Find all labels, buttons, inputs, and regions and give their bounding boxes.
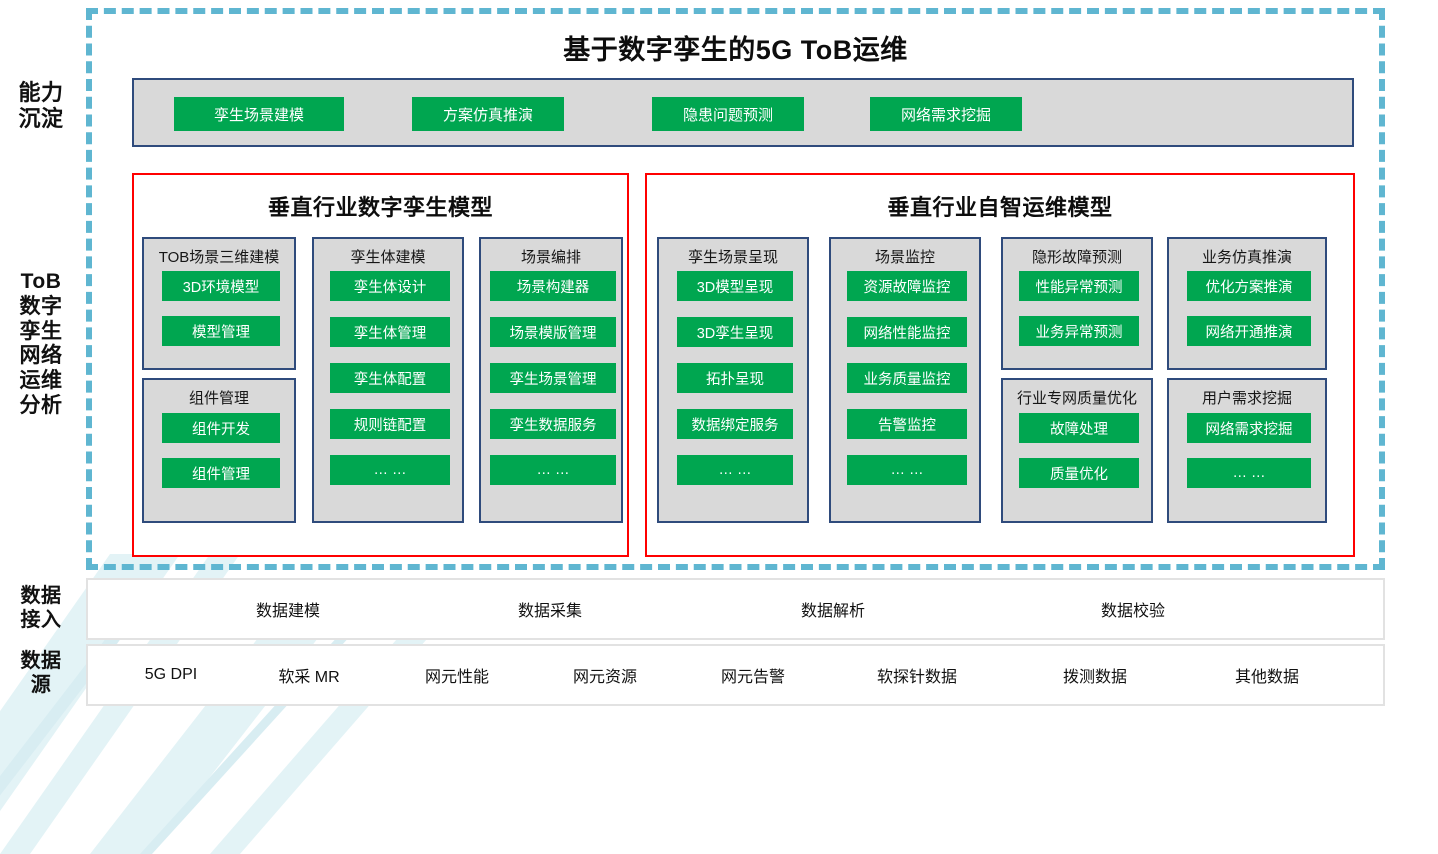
capability-chip[interactable]: 方案仿真推演 xyxy=(412,97,564,131)
row-label-data-ingest: 数据接入 xyxy=(0,585,82,632)
item-chip[interactable]: 组件管理 xyxy=(162,458,280,488)
item-chip[interactable]: 网络开通推演 xyxy=(1187,316,1311,346)
item-chip[interactable]: 规则链配置 xyxy=(330,409,450,439)
data-source-cell: 网元告警 xyxy=(680,646,826,704)
item-chip[interactable]: … … xyxy=(490,455,616,485)
item-chip[interactable]: … … xyxy=(330,455,450,485)
item-chip[interactable]: 孪生体管理 xyxy=(330,317,450,347)
item-chip[interactable]: 3D模型呈现 xyxy=(677,271,793,301)
item-chip[interactable]: 拓扑呈现 xyxy=(677,363,793,393)
item-chip[interactable]: 业务质量监控 xyxy=(847,363,967,393)
data-ingest-cell: 数据采集 xyxy=(450,580,650,638)
group-box: 业务仿真推演 优化方案推演 网络开通推演 xyxy=(1167,237,1327,370)
item-chip[interactable]: 场景构建器 xyxy=(490,271,616,301)
group-title: 孪生体建模 xyxy=(314,246,462,267)
data-source-cell: 其他数据 xyxy=(1194,646,1340,704)
capability-chip[interactable]: 隐患问题预测 xyxy=(652,97,804,131)
item-chip[interactable]: 3D环境模型 xyxy=(162,271,280,301)
group-title: TOB场景三维建模 xyxy=(144,246,294,267)
data-ingest-cell: 数据校验 xyxy=(1033,580,1233,638)
capability-strip: 孪生场景建模 方案仿真推演 隐患问题预测 网络需求挖掘 xyxy=(132,78,1354,147)
item-chip[interactable]: 资源故障监控 xyxy=(847,271,967,301)
group-title: 业务仿真推演 xyxy=(1169,246,1325,267)
model-panel-autonomous-ops: 垂直行业自智运维模型 孪生场景呈现 3D模型呈现 3D孪生呈现 拓扑呈现 数据绑… xyxy=(645,173,1355,557)
item-chip[interactable]: 网络需求挖掘 xyxy=(1187,413,1311,443)
model-panel-digital-twin: 垂直行业数字孪生模型 TOB场景三维建模 3D环境模型 模型管理 组件管理 组件… xyxy=(132,173,629,557)
item-chip[interactable]: 网络性能监控 xyxy=(847,317,967,347)
group-title: 组件管理 xyxy=(144,387,294,408)
group-title: 场景监控 xyxy=(831,246,979,267)
group-box: 组件管理 组件开发 组件管理 xyxy=(142,378,296,523)
capability-chip[interactable]: 网络需求挖掘 xyxy=(870,97,1022,131)
group-box: 场景监控 资源故障监控 网络性能监控 业务质量监控 告警监控 … … xyxy=(829,237,981,523)
page-title: 基于数字孪生的5G ToB运维 xyxy=(86,28,1385,67)
group-box: 行业专网质量优化 故障处理 质量优化 xyxy=(1001,378,1153,523)
model-panel-title: 垂直行业自智运维模型 xyxy=(647,190,1353,222)
group-title: 用户需求挖掘 xyxy=(1169,387,1325,408)
group-title: 行业专网质量优化 xyxy=(1003,387,1151,408)
row-label-data-source: 数据源 xyxy=(0,650,82,697)
group-title: 场景编排 xyxy=(481,246,621,267)
item-chip[interactable]: 场景模版管理 xyxy=(490,317,616,347)
item-chip[interactable]: 业务异常预测 xyxy=(1019,316,1139,346)
item-chip[interactable]: … … xyxy=(1187,458,1311,488)
item-chip[interactable]: 孪生数据服务 xyxy=(490,409,616,439)
item-chip[interactable]: 数据绑定服务 xyxy=(677,409,793,439)
capability-chip[interactable]: 孪生场景建模 xyxy=(174,97,344,131)
group-box: 隐形故障预测 性能异常预测 业务异常预测 xyxy=(1001,237,1153,370)
row-label-tob: ToB数字孪生网络运维分析 xyxy=(0,270,82,419)
group-box: TOB场景三维建模 3D环境模型 模型管理 xyxy=(142,237,296,370)
data-source-cell: 5G DPI xyxy=(98,646,244,704)
item-chip[interactable]: 组件开发 xyxy=(162,413,280,443)
item-chip[interactable]: 故障处理 xyxy=(1019,413,1139,443)
data-source-cell: 网元性能 xyxy=(384,646,530,704)
data-source-cell: 软采 MR xyxy=(236,646,382,704)
data-source-cell: 网元资源 xyxy=(532,646,678,704)
data-source-cell: 软探针数据 xyxy=(844,646,990,704)
item-chip[interactable]: 性能异常预测 xyxy=(1019,271,1139,301)
model-panel-title: 垂直行业数字孪生模型 xyxy=(134,190,627,222)
item-chip[interactable]: 告警监控 xyxy=(847,409,967,439)
item-chip[interactable]: 质量优化 xyxy=(1019,458,1139,488)
item-chip[interactable]: 孪生体设计 xyxy=(330,271,450,301)
item-chip[interactable]: 孪生场景管理 xyxy=(490,363,616,393)
group-box: 场景编排 场景构建器 场景模版管理 孪生场景管理 孪生数据服务 … … xyxy=(479,237,623,523)
group-box: 孪生体建模 孪生体设计 孪生体管理 孪生体配置 规则链配置 … … xyxy=(312,237,464,523)
item-chip[interactable]: 优化方案推演 xyxy=(1187,271,1311,301)
item-chip[interactable]: … … xyxy=(847,455,967,485)
item-chip[interactable]: 3D孪生呈现 xyxy=(677,317,793,347)
item-chip[interactable]: … … xyxy=(677,455,793,485)
row-label-capability: 能力沉淀 xyxy=(0,80,82,132)
group-title: 隐形故障预测 xyxy=(1003,246,1151,267)
data-ingest-row: 数据建模 数据采集 数据解析 数据校验 xyxy=(86,578,1385,640)
group-box: 孪生场景呈现 3D模型呈现 3D孪生呈现 拓扑呈现 数据绑定服务 … … xyxy=(657,237,809,523)
data-ingest-cell: 数据建模 xyxy=(188,580,388,638)
data-ingest-cell: 数据解析 xyxy=(733,580,933,638)
item-chip[interactable]: 孪生体配置 xyxy=(330,363,450,393)
group-title: 孪生场景呈现 xyxy=(659,246,807,267)
group-box: 用户需求挖掘 网络需求挖掘 … … xyxy=(1167,378,1327,523)
data-source-cell: 拨测数据 xyxy=(1022,646,1168,704)
data-source-row: 5G DPI 软采 MR 网元性能 网元资源 网元告警 软探针数据 拨测数据 其… xyxy=(86,644,1385,706)
item-chip[interactable]: 模型管理 xyxy=(162,316,280,346)
